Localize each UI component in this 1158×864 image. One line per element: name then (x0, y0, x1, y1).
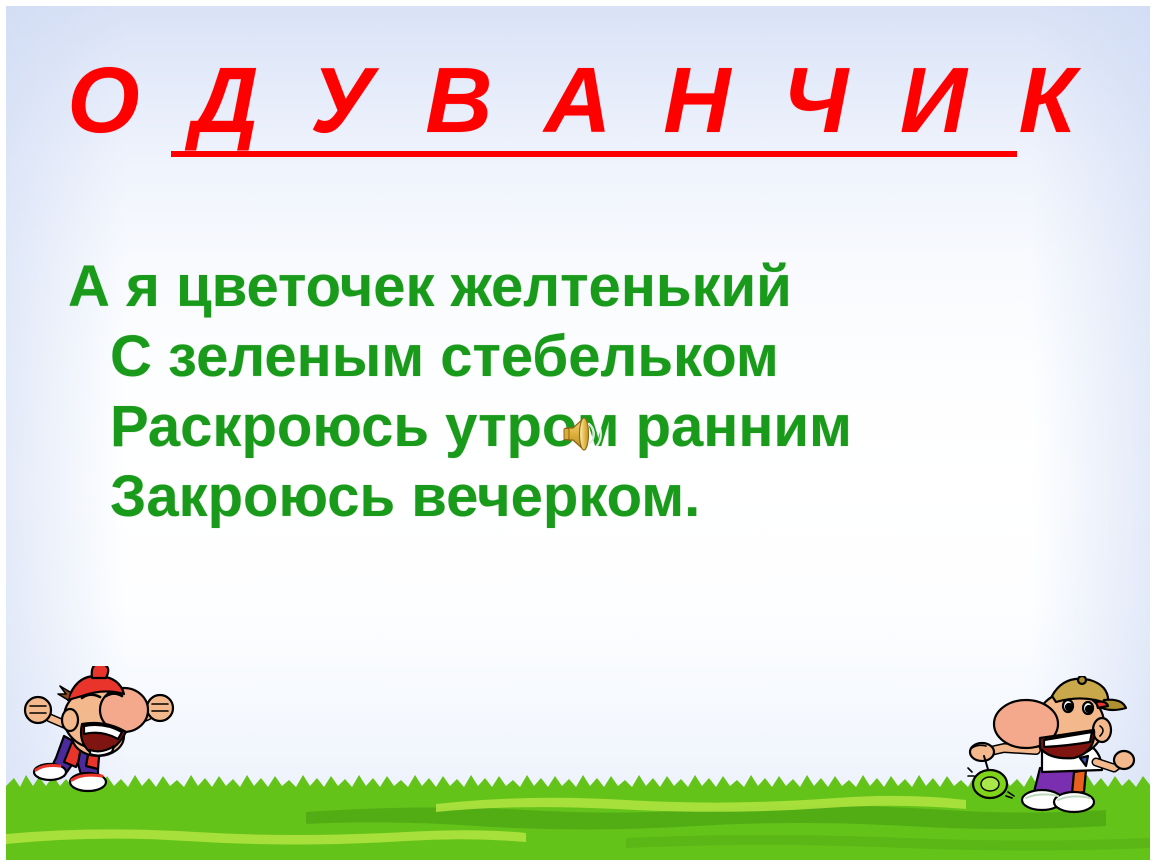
cartoon-boy-cheering (20, 666, 188, 798)
speaker-sound-icon[interactable] (562, 412, 602, 456)
poem-block: А я цветочек желтенький С зеленым стебел… (6, 252, 1150, 532)
slide-title: О Д У В А Н Ч И К (53, 54, 1103, 153)
slide-background: О Д У В А Н Ч И К А я цветочек желтеньки… (6, 6, 1150, 860)
cartoon-boy-with-yoyo (956, 676, 1136, 816)
poem-line-1: А я цветочек желтенький (6, 252, 1150, 322)
poem-line-2: С зеленым стебельком (6, 322, 1150, 392)
title-container: О Д У В А Н Ч И К (6, 54, 1150, 153)
slide: О Д У В А Н Ч И К А я цветочек желтеньки… (0, 0, 1158, 864)
poem-line-4: Закроюсь вечерком. (6, 462, 1150, 532)
title-underline (171, 151, 1017, 157)
